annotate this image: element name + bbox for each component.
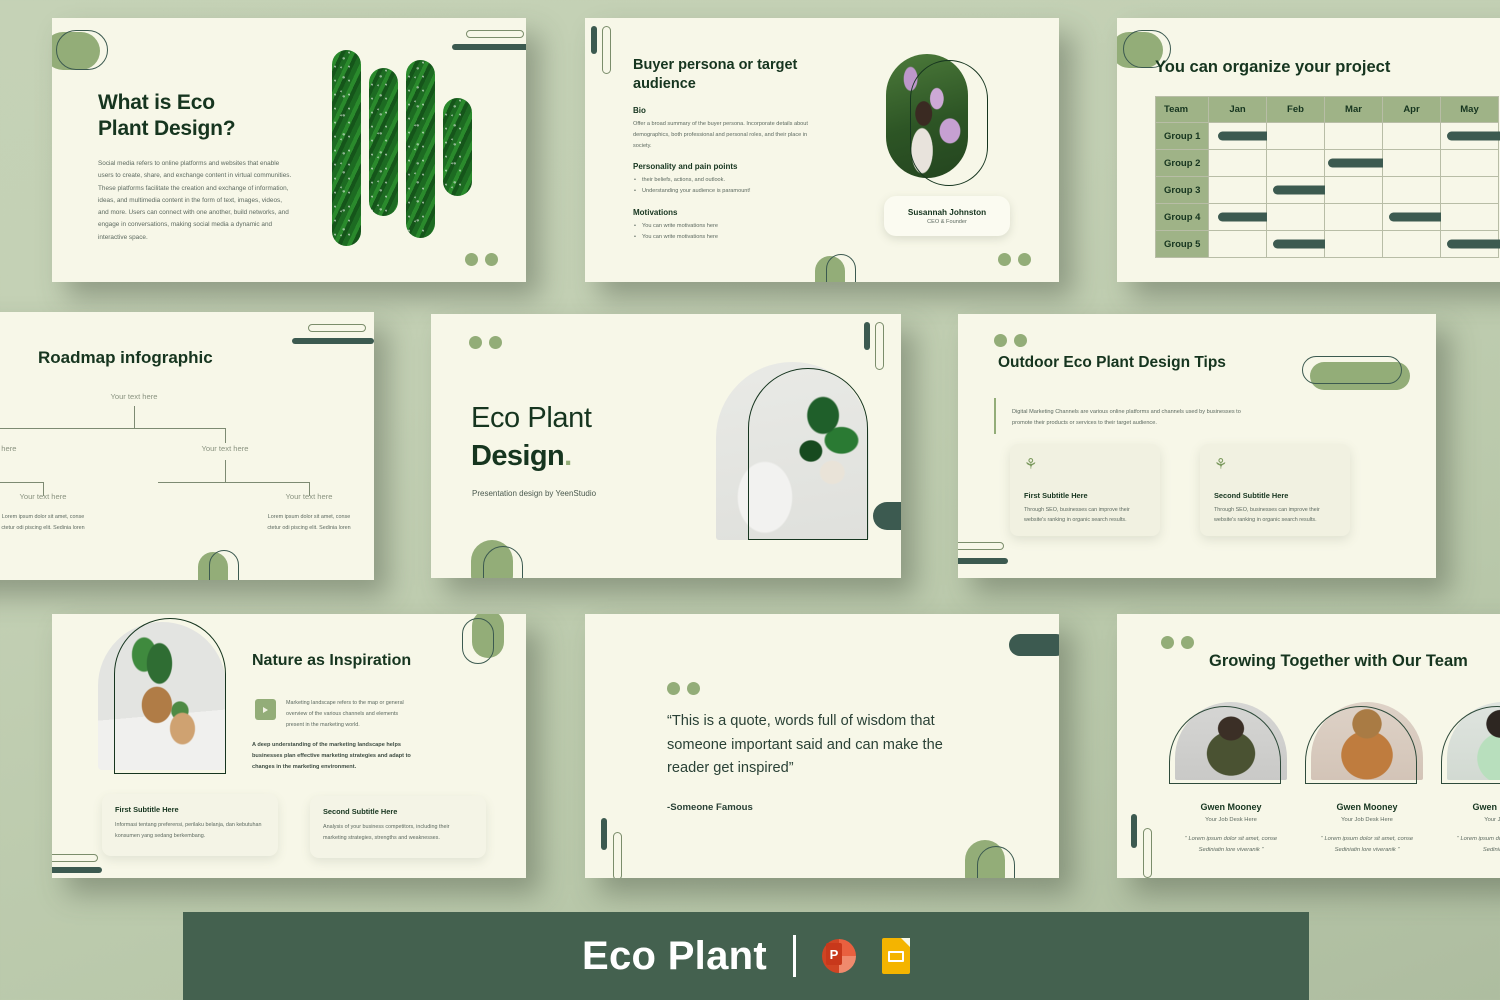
list-item: You can write motivations here — [633, 221, 833, 232]
fern-stripe-2 — [369, 68, 398, 216]
slide2-personality-list: their beliefs, actions, and outlook. Und… — [633, 175, 833, 197]
tip-card-1-subtitle: First Subtitle Here — [1024, 491, 1146, 500]
table-cell — [1325, 204, 1383, 231]
gantt-bar — [1447, 240, 1500, 249]
slide7-bold-text: A deep understanding of the marketing la… — [252, 740, 414, 774]
table-header-may: May — [1441, 97, 1499, 123]
table-cell — [1383, 204, 1441, 231]
table-row-label: Group 2 — [1156, 150, 1209, 177]
decor-bar-outline — [613, 832, 622, 878]
slide-outdoor-tips[interactable]: Outdoor Eco Plant Design Tips Digital Ma… — [958, 314, 1436, 578]
table-cell — [1209, 150, 1267, 177]
persona-name-card: Susannah Johnston CEO & Founder — [884, 196, 1010, 236]
roadmap-node-level2-1: Your text here — [0, 444, 52, 453]
powerpoint-icon[interactable]: P — [822, 939, 856, 973]
roadmap-node-root: Your text here — [74, 392, 194, 401]
slide2-bio-text: Offer a broad summary of the buyer perso… — [633, 119, 815, 152]
project-gantt-table[interactable]: Team Jan Feb Mar Apr May Group 1Group 2G… — [1155, 96, 1499, 258]
table-header-mar: Mar — [1325, 97, 1383, 123]
table-cell — [1441, 150, 1499, 177]
roadmap-connector — [134, 406, 135, 428]
table-row: Group 3 — [1156, 177, 1499, 204]
team-member-3-job: Your Job Desk — [1447, 817, 1500, 823]
team-member-3-name: Gwen Mooney — [1447, 802, 1500, 812]
roadmap-node-level2-2: Your text here — [166, 444, 284, 453]
slide2-dots-decoration — [998, 253, 1031, 266]
persona-role: CEO & Founder — [927, 219, 967, 225]
decor-pill-outline-bottom — [483, 546, 523, 578]
slide-roadmap-infographic[interactable]: Roadmap infographic Your text here Your … — [0, 312, 374, 580]
roadmap-caption-2: Lorem ipsum dolor sit amet, conse ctetur… — [0, 512, 102, 533]
quote-author: -Someone Famous — [667, 802, 753, 813]
decor-bar-outline — [875, 322, 884, 370]
slide-team[interactable]: Growing Together with Our Team Gwen Moon… — [1117, 614, 1500, 878]
slide1-title-line1: What is Eco — [98, 91, 215, 114]
nature-card-1-text: Informasi tentang preferensi, perilaku b… — [115, 820, 265, 841]
nature-card-1[interactable]: First Subtitle Here Informasi tentang pr… — [102, 794, 278, 856]
table-cell — [1441, 231, 1499, 258]
roadmap-connector — [158, 482, 310, 483]
slide4-title: Roadmap infographic — [38, 348, 213, 368]
google-slides-icon-frame — [888, 951, 904, 962]
table-row: Group 1 — [1156, 123, 1499, 150]
table-cell — [1325, 177, 1383, 204]
table-row-label: Group 5 — [1156, 231, 1209, 258]
roadmap-connector — [225, 428, 226, 443]
list-item: their beliefs, actions, and outlook. — [633, 175, 833, 186]
nature-card-1-subtitle: First Subtitle Here — [115, 805, 265, 814]
nature-arch-outline — [114, 618, 226, 774]
table-cell — [1441, 177, 1499, 204]
slide5-dots-decoration — [469, 336, 502, 349]
roadmap-node-level3-2: Your text here — [0, 492, 102, 501]
table-cell — [1441, 123, 1499, 150]
slide7-title: Nature as Inspiration — [252, 652, 411, 670]
slide-buyer-persona[interactable]: Buyer persona or target audience Bio Off… — [585, 18, 1059, 282]
tip-card-1[interactable]: ⚘ First Subtitle Here Through SEO, busin… — [1010, 444, 1160, 536]
table-cell — [1325, 123, 1383, 150]
slide8-dots-decoration — [667, 682, 700, 695]
decor-pill-outline-bottom — [977, 846, 1015, 878]
fern-image-group — [332, 50, 492, 250]
slide7-play-text: Marketing landscape refers to the map or… — [286, 698, 414, 730]
slide9-title: Growing Together with Our Team — [1209, 652, 1468, 671]
table-cell — [1209, 231, 1267, 258]
slide9-dots-decoration — [1161, 636, 1194, 649]
decor-pill-outline-topright — [466, 30, 524, 38]
list-item: You can write motivations here — [633, 232, 833, 243]
table-cell — [1325, 150, 1383, 177]
roadmap-connector — [0, 482, 44, 483]
decor-pill-outline-right — [1302, 356, 1402, 384]
decor-pill-dark-bottomleft — [958, 558, 1008, 564]
slide2-bio-heading: Bio — [633, 106, 646, 115]
slide2-motivations-heading: Motivations — [633, 208, 677, 217]
slide2-personality-heading: Personality and pain points — [633, 162, 737, 171]
roadmap-caption-3: Lorem ipsum dolor sit amet, conse ctetur… — [250, 512, 368, 533]
slide-project-table[interactable]: You can organize your project Team Jan F… — [1117, 18, 1500, 282]
decor-pill-outline-bottomleft — [958, 542, 1004, 550]
decor-bar-dark — [601, 818, 607, 850]
banner-separator — [793, 935, 796, 977]
table-row-label: Group 4 — [1156, 204, 1209, 231]
team-member-1-job: Your Job Desk Here — [1175, 817, 1287, 823]
slide1-title: What is Eco Plant Design? — [98, 90, 235, 143]
table-cell — [1441, 204, 1499, 231]
table-cell — [1209, 177, 1267, 204]
tip-card-1-text: Through SEO, businesses can improve thei… — [1024, 505, 1146, 526]
table-cell — [1267, 177, 1325, 204]
decor-pill-outline-topright — [462, 618, 494, 664]
decor-bar-outline — [1143, 828, 1152, 878]
roadmap-connector — [0, 428, 226, 429]
team-member-3-arch — [1441, 706, 1500, 784]
slide2-motivations-list: You can write motivations here You can w… — [633, 221, 833, 243]
team-member-3[interactable]: Gwen Mooney Your Job Desk “ Lorem ipsum … — [1447, 702, 1500, 855]
tip-card-2-text: Through SEO, businesses can improve thei… — [1214, 505, 1336, 526]
tip-card-2[interactable]: ⚘ Second Subtitle Here Through SEO, busi… — [1200, 444, 1350, 536]
table-cell — [1267, 231, 1325, 258]
roadmap-node-level3-3: Your text here — [250, 492, 368, 501]
table-cell — [1267, 123, 1325, 150]
table-cell — [1383, 123, 1441, 150]
gantt-bar — [1447, 132, 1500, 141]
team-member-2[interactable]: Gwen Mooney Your Job Desk Here “ Lorem i… — [1311, 702, 1423, 855]
slide6-title: Outdoor Eco Plant Design Tips — [998, 354, 1226, 372]
decor-bar-dark — [591, 26, 597, 54]
table-cell — [1267, 204, 1325, 231]
table-header-apr: Apr — [1383, 97, 1441, 123]
slide2-title: Buyer persona or target audience — [633, 56, 843, 94]
table-header-row: Team Jan Feb Mar Apr May — [1156, 97, 1499, 123]
table-cell — [1325, 231, 1383, 258]
table-header-team: Team — [1156, 97, 1209, 123]
team-member-1[interactable]: Gwen Mooney Your Job Desk Here “ Lorem i… — [1175, 702, 1287, 855]
decor-pill-dark-bottomleft — [52, 867, 102, 873]
plant-sprout-icon: ⚘ — [1024, 457, 1146, 472]
decor-pill-dark-topright — [292, 338, 374, 344]
team-member-2-name: Gwen Mooney — [1311, 802, 1423, 812]
slide-quote[interactable]: “This is a quote, words full of wisdom t… — [585, 614, 1059, 878]
decor-pill-dark-right — [873, 502, 901, 530]
powerpoint-icon-letter: P — [826, 943, 842, 965]
table-cell — [1383, 150, 1441, 177]
table-cell — [1383, 231, 1441, 258]
persona-photo-ring — [910, 60, 988, 186]
table-row: Group 5 — [1156, 231, 1499, 258]
slide3-title: You can organize your project — [1155, 58, 1390, 77]
slide6-lead-text: Digital Marketing Channels are various o… — [1012, 407, 1247, 429]
decor-pill-dark-topright — [1009, 634, 1059, 656]
lead-quote-bar — [994, 398, 996, 434]
table-row: Group 4 — [1156, 204, 1499, 231]
nature-card-2-text: Analysis of your business competitors, i… — [323, 822, 473, 843]
team-member-2-quote: “ Lorem ipsum dolor sit amet, conse Sedi… — [1311, 834, 1423, 855]
persona-name: Susannah Johnston — [908, 208, 986, 217]
slide1-title-line2: Plant Design? — [98, 117, 235, 140]
nature-card-2[interactable]: Second Subtitle Here Analysis of your bu… — [310, 796, 486, 858]
table-header-feb: Feb — [1267, 97, 1325, 123]
team-member-2-job: Your Job Desk Here — [1311, 817, 1423, 823]
decor-pill-outline-bottomleft — [52, 854, 98, 862]
decor-pill-outline-topleft — [56, 30, 108, 70]
table-row-label: Group 1 — [1156, 123, 1209, 150]
team-member-1-quote: “ Lorem ipsum dolor sit amet, conse Sedi… — [1175, 834, 1287, 855]
decor-pill-outline-topright — [308, 324, 366, 332]
list-item: Understanding your audience is paramount… — [633, 186, 833, 197]
fern-stripe-3 — [406, 60, 435, 238]
slide5-title-bold: Design. — [471, 440, 572, 473]
slide6-dots-decoration — [994, 334, 1027, 347]
slide-what-is-eco-plant-design[interactable]: What is Eco Plant Design? Social media r… — [52, 18, 526, 282]
slide1-paragraph: Social media refers to online platforms … — [98, 158, 294, 244]
title-slide-arch-outline — [748, 368, 868, 540]
slide5-subtitle: Presentation design by YeenStudio — [472, 489, 596, 498]
table-cell — [1209, 123, 1267, 150]
fern-stripe-4 — [443, 98, 472, 196]
table-cell — [1209, 204, 1267, 231]
banner-product-name: Eco Plant — [582, 934, 767, 979]
roadmap-connector — [225, 460, 226, 482]
quote-text: “This is a quote, words full of wisdom t… — [667, 710, 987, 781]
bottom-banner: Eco Plant P — [183, 912, 1309, 1000]
decor-pill-outline-bottom — [826, 254, 856, 282]
decor-pill-outline-bottom — [209, 550, 239, 580]
decor-bar-dark — [864, 322, 870, 350]
table-cell — [1267, 150, 1325, 177]
table-cell — [1383, 177, 1441, 204]
nature-card-2-subtitle: Second Subtitle Here — [323, 807, 473, 816]
team-member-3-quote: “ Lorem ipsum dolor sit amet, conse Sedi… — [1447, 834, 1500, 855]
table-row-label: Group 3 — [1156, 177, 1209, 204]
tip-card-2-subtitle: Second Subtitle Here — [1214, 491, 1336, 500]
google-slides-icon[interactable] — [882, 938, 910, 974]
potted-cactus-icon: ⚘ — [1214, 457, 1336, 472]
play-button-icon[interactable] — [255, 699, 276, 720]
table-row: Group 2 — [1156, 150, 1499, 177]
slide1-dots-decoration — [465, 253, 498, 266]
slide5-title-light: Eco Plant — [471, 402, 592, 435]
team-member-1-name: Gwen Mooney — [1175, 802, 1287, 812]
table-header-jan: Jan — [1209, 97, 1267, 123]
fern-stripe-1 — [332, 50, 361, 246]
decor-bar-dark — [1131, 814, 1137, 848]
decor-bar-outline — [602, 26, 611, 74]
